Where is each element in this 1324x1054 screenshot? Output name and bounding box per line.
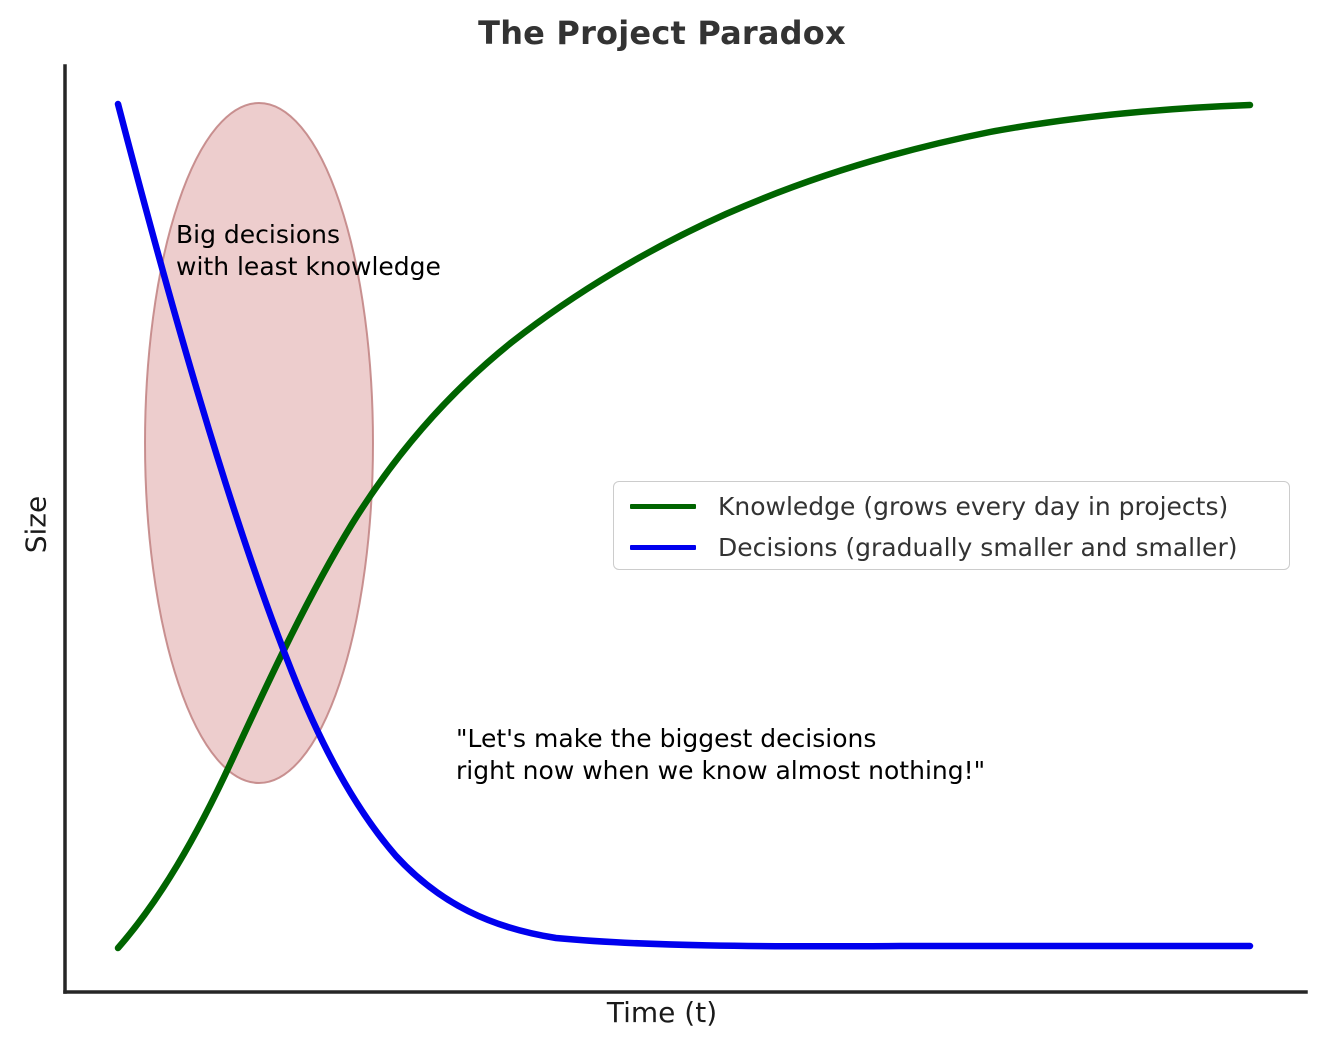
annotation-quote: "Let's make the biggest decisions right … [456, 723, 985, 787]
highlight-ellipse [145, 103, 373, 783]
y-axis-label: Size [20, 477, 53, 573]
legend-item-knowledge[interactable]: Knowledge (grows every day in projects) [630, 488, 1228, 524]
chart-figure: The Project Paradox Big decisions with l… [0, 0, 1324, 1054]
chart-legend: Knowledge (grows every day in projects) … [613, 481, 1290, 570]
legend-label-decisions: Decisions (gradually smaller and smaller… [718, 533, 1237, 562]
legend-swatch-knowledge-icon [630, 504, 696, 509]
annotation-big-decisions: Big decisions with least knowledge [176, 219, 441, 283]
x-axis-label: Time (t) [0, 996, 1324, 1029]
legend-item-decisions[interactable]: Decisions (gradually smaller and smaller… [630, 529, 1237, 565]
legend-swatch-decisions-icon [630, 545, 696, 550]
legend-label-knowledge: Knowledge (grows every day in projects) [718, 492, 1228, 521]
